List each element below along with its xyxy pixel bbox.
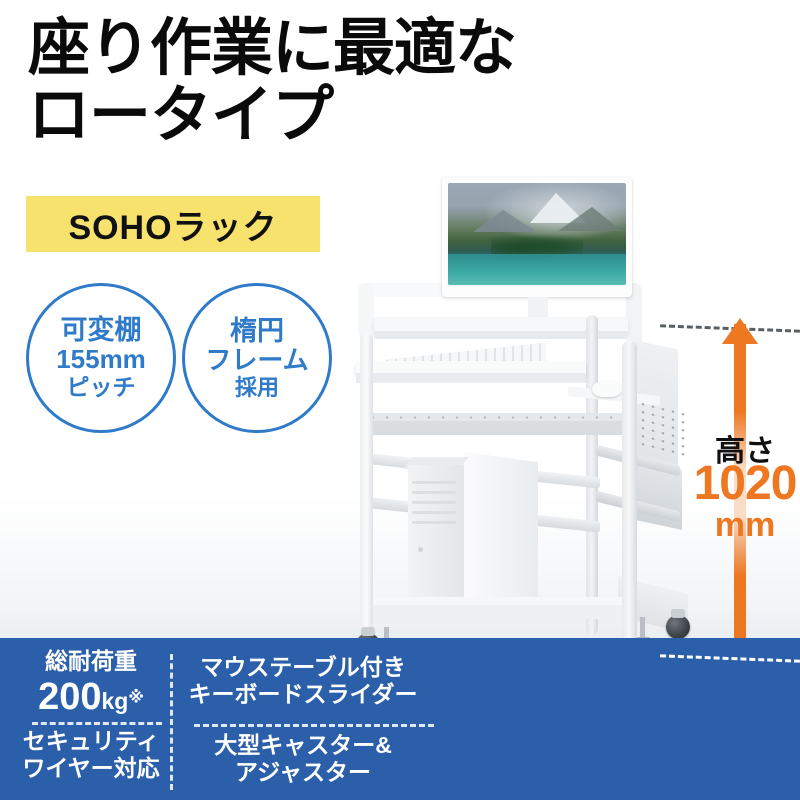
feature-load-capacity: 総耐荷重 200kg※ [18,648,164,720]
feature-load-label: 総耐荷重 [18,648,164,675]
height-value: 1020 [690,460,800,508]
keyboard-slider-edge [356,373,586,383]
feature-keyboard-line-1: マウステーブル付き [178,654,428,681]
feature-keyboard-line-2: キーボードスライダー [178,681,428,708]
feature-security-line-1: セキュリティ [18,728,164,755]
advertisement-page: 座り作業に最適な ロータイプ SOHOラック 可変棚 155mm ピッチ 楕円 … [0,0,800,800]
pc-tower-front [408,465,464,613]
product-category-label: SOHOラック [68,200,277,249]
height-arrow-head-up-icon [722,318,758,344]
rack-mid-shelf-edge [366,421,630,435]
caster-cap-front-left [361,627,375,636]
divider-horizontal-right [194,724,434,727]
feature-security-line-2: ワイヤー対応 [18,755,164,782]
feature-load-footnote-mark: ※ [128,690,144,707]
pc-tower-vent [412,521,456,524]
feature-circle-1-line-2: 155mm [56,345,146,374]
pc-tower-vent [412,481,456,484]
feature-load-value: 200 [38,676,101,718]
feature-circle-adjustable-shelf: 可変棚 155mm ピッチ [26,283,176,433]
height-unit: mm [690,508,800,542]
monitor-screen [448,183,626,285]
feature-circle-1-line-3: ピッチ [67,374,136,401]
wallpaper-mountain-right [558,207,622,231]
features-grid: 総耐荷重 200kg※ セキュリティ ワイヤー対応 マウステーブル付き キーボー… [18,644,370,794]
rack-post-left [360,333,373,633]
feature-keyboard-slider: マウステーブル付き キーボードスライダー [178,654,428,708]
height-annotation: 高さ 1020 mm [690,318,800,668]
adjuster-rear-right [640,617,645,639]
product-category-badge: SOHOラック [26,196,320,252]
rack-bottom-shelf-edge [368,605,630,619]
rack-rail-left [358,283,374,339]
headline-line-2: ロータイプ [28,83,688,150]
feature-circle-2-line-3: 採用 [235,375,279,401]
feature-caster-line-2: アジャスター [178,759,428,786]
feature-circle-1-line-1: 可変棚 [61,315,142,345]
feature-load-unit: kg [102,688,129,714]
headline-line-1: 座り作業に最適な [28,16,688,83]
feature-circle-2-line-2: フレーム [205,346,308,375]
feature-load-value-row: 200kg※ [18,675,164,720]
divider-vertical [170,654,173,790]
divider-horizontal-left [32,722,162,725]
pc-power-led [418,547,423,552]
feature-caster-line-1: 大型キャスター& [178,732,428,759]
pc-tower-vent [412,511,456,514]
features-banner: 総耐荷重 200kg※ セキュリティ ワイヤー対応 マウステーブル付き キーボー… [0,638,800,800]
pc-tower-vent [412,501,456,504]
feature-circle-2-line-1: 楕円 [230,316,284,346]
pc-tower-side [464,452,538,612]
rack-post-right [622,341,637,641]
pc-tower-vent [412,491,456,494]
caster-cap-rear-right [671,609,685,618]
feature-security-wire: セキュリティ ワイヤー対応 [18,728,164,782]
wallpaper-mountain-left [473,210,537,232]
feature-circle-oval-frame: 楕円 フレーム 採用 [182,283,332,433]
wallpaper-lake [448,254,626,285]
feature-caster-adjuster: 大型キャスター& アジャスター [178,732,428,786]
page-title: 座り作業に最適な ロータイプ [28,16,688,150]
caster-rear-right [666,615,690,639]
product-photo [350,165,730,665]
rack-post-back [586,315,598,635]
